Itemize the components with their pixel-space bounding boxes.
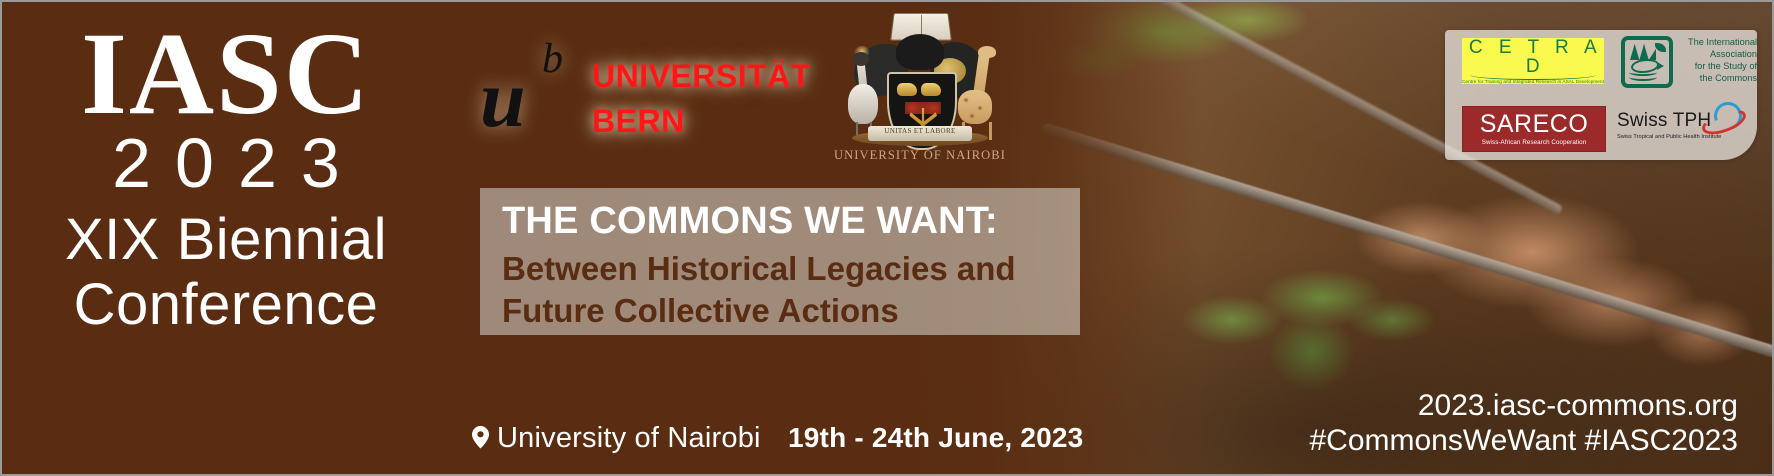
web-info-block: 2023.iasc-commons.org #CommonsWeWant #IA… [1309, 388, 1738, 459]
cetrad-swoosh-icon [1470, 70, 1596, 80]
glyph-wave-lower [1629, 73, 1657, 81]
unibern-ub-mark-icon: u b [480, 40, 578, 144]
conference-edition-line2: Conference [36, 273, 416, 337]
crane-body [848, 84, 878, 124]
iasc-brand-lockup: IASC 2023 XIX Biennial Conference [36, 16, 416, 337]
sareco-wordmark: SARECO [1463, 112, 1605, 137]
iasc-association-logo: The International Association for the St… [1621, 36, 1757, 88]
theme-headline: THE COMMONS WE WANT: [502, 202, 998, 240]
iasc-word-line3: for the Study of [1681, 60, 1757, 72]
crest-lion-right [921, 83, 941, 96]
venue-name: University of Nairobi [497, 422, 761, 455]
iasc-commons-glyph-icon [1621, 36, 1673, 88]
unibern-line1: UNIVERSITÄT [592, 54, 811, 99]
nairobi-coat-of-arms-icon: UNITAS ET LABORE [830, 10, 1010, 146]
glyph-leaf [1655, 43, 1666, 52]
giraffe-body [958, 90, 992, 124]
sareco-logo: SARECO Swiss-African Research Cooperatio… [1462, 106, 1606, 152]
university-of-bern-logo: u b UNIVERSITÄT BERN [480, 40, 811, 145]
unibern-line2: BERN [592, 99, 811, 144]
conference-theme-box: THE COMMONS WE WANT: Between Historical … [480, 188, 1080, 335]
glyph-mountains [1630, 44, 1656, 60]
crest-helm [896, 34, 944, 70]
giraffe-head [978, 46, 996, 58]
map-pin-icon [472, 426, 489, 452]
conference-hashtags: #CommonsWeWant #IASC2023 [1309, 423, 1738, 458]
unibern-b-glyph: b [542, 38, 563, 80]
unibern-wordmark: UNIVERSITÄT BERN [592, 54, 811, 145]
conference-dates: 19th - 24th June, 2023 [788, 422, 1083, 454]
iasc-acronym: IASC [36, 16, 416, 132]
crest-motto-scroll: UNITAS ET LABORE [868, 126, 972, 141]
iasc-word-line2: Association [1681, 48, 1757, 60]
conference-banner: IASC 2023 XIX Biennial Conference u b UN… [0, 0, 1774, 476]
cetrad-logo: C E T R A D Centre for Training and Inte… [1462, 38, 1604, 84]
iasc-word-line1: The International [1681, 36, 1757, 48]
crest-lion-left [897, 83, 917, 96]
swiss-tph-orbit-icon [1701, 100, 1743, 136]
theme-subtitle: Between Historical Legacies and Future C… [502, 248, 1016, 332]
conference-website[interactable]: 2023.iasc-commons.org [1309, 388, 1738, 423]
iasc-association-wordmark: The International Association for the St… [1681, 36, 1757, 85]
conference-edition-line1: XIX Biennial [36, 208, 416, 273]
theme-subtitle-line1: Between Historical Legacies and [502, 248, 1016, 290]
venue-block: University of Nairobi [472, 422, 761, 455]
swiss-tph-logo: Swiss TPH Swiss Tropical and Public Heal… [1617, 110, 1745, 140]
crest-motto-text: UNITAS ET LABORE [868, 127, 972, 135]
nairobi-caption: UNIVERSITY OF NAIROBI [830, 148, 1010, 163]
iasc-word-line4: the Commons [1681, 72, 1757, 84]
crane-head [853, 52, 869, 66]
unibern-u-glyph: u [480, 58, 526, 140]
theme-subtitle-line2: Future Collective Actions [502, 290, 1016, 332]
university-of-nairobi-logo: UNITAS ET LABORE UNIVERSITY OF NAIROBI [830, 10, 1010, 180]
partner-logos-card: C E T R A D Centre for Training and Inte… [1445, 30, 1757, 160]
sareco-subtitle: Swiss-African Research Cooperation [1463, 139, 1605, 146]
